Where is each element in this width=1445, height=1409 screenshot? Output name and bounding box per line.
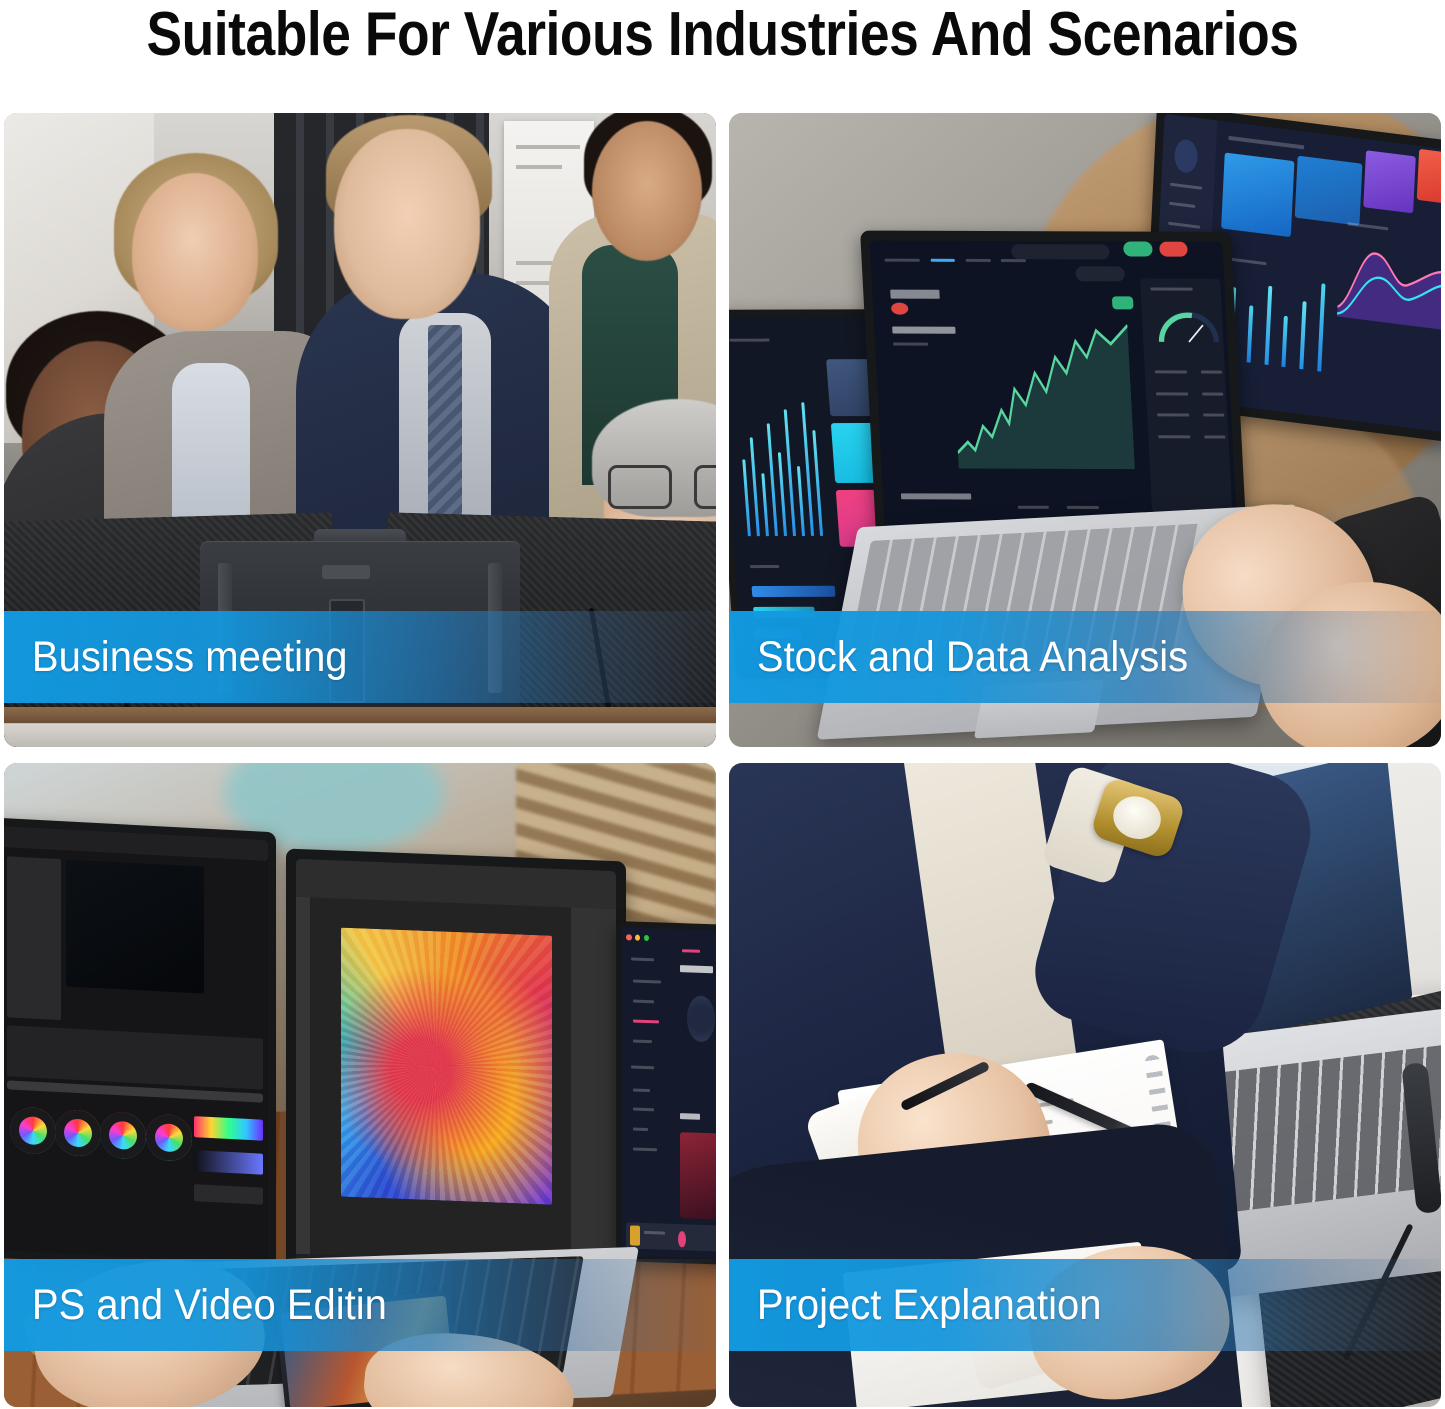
ie-analysis-card[interactable]: [1221, 152, 1295, 237]
scenario-panel-stock-data-analysis[interactable]: Stock and Data Analysis: [729, 113, 1441, 747]
ticker-flag-icon: [890, 302, 908, 314]
app-menubar[interactable]: [4, 826, 268, 861]
panel-caption-text: Project Explanation: [729, 1282, 1101, 1328]
gauge-chart: [1155, 303, 1221, 352]
promo-page: Suitable For Various Industries And Scen…: [0, 0, 1445, 1409]
scenario-grid: Business meeting: [4, 113, 1441, 1407]
add-watchlist-button[interactable]: [1075, 266, 1125, 282]
photoshop-screen: [296, 859, 616, 1291]
music-player-app: [622, 927, 716, 1259]
panel-caption-bar: Business meeting: [4, 611, 716, 703]
safari-analysis-card[interactable]: [1363, 150, 1415, 213]
person-face: [334, 129, 480, 319]
panel-caption-bar: Stock and Data Analysis: [729, 611, 1441, 703]
now-playing-art: [630, 1226, 641, 1246]
panel-caption-text: PS and Video Editin: [4, 1282, 387, 1328]
play-button[interactable]: [678, 1231, 686, 1248]
minimize-icon[interactable]: [635, 934, 640, 941]
hue-slider[interactable]: [194, 1116, 263, 1141]
album-art: [687, 995, 715, 1042]
stock-trading-dashboard: [870, 241, 1239, 550]
left-portable-monitor[interactable]: [4, 818, 276, 1273]
color-wheel-gain[interactable]: [100, 1111, 146, 1159]
stock-dashboard-screen: [870, 241, 1239, 550]
sell-button[interactable]: [1159, 242, 1188, 257]
opera-analysis-card[interactable]: [1416, 149, 1441, 205]
music-player-screen: [622, 927, 716, 1259]
buy-button[interactable]: [1123, 241, 1152, 256]
photoshop-toolbar[interactable]: [296, 897, 310, 1255]
color-wheel-offset[interactable]: [146, 1113, 192, 1161]
panel-caption-bar: Project Explanation: [729, 1259, 1441, 1351]
panel-caption-bar: PS and Video Editin: [4, 1259, 716, 1351]
laptop-display[interactable]: [286, 848, 626, 1301]
video-editing-app: [4, 826, 268, 1264]
search-input[interactable]: [1011, 244, 1111, 260]
media-pool[interactable]: [7, 856, 60, 1020]
progress-bar: [751, 586, 836, 597]
video-editor-screen: [4, 826, 268, 1264]
photoshop-menubar[interactable]: [296, 859, 616, 909]
meeting-table: [4, 707, 716, 747]
recent-album-card[interactable]: [680, 1133, 716, 1220]
scenario-panel-ps-and-video-editing[interactable]: PS and Video Editin: [4, 763, 716, 1407]
panel-caption-text: Stock and Data Analysis: [729, 634, 1188, 680]
velocity-analysis-chart: [1337, 232, 1441, 331]
scenario-panel-business-meeting[interactable]: Business meeting: [4, 113, 716, 747]
panel-caption-text: Business meeting: [4, 634, 348, 680]
page-title: Suitable For Various Industries And Scen…: [101, 0, 1344, 72]
maximize-icon[interactable]: [644, 934, 649, 941]
price-line-chart: [951, 309, 1136, 470]
video-preview[interactable]: [66, 859, 204, 993]
person-face: [592, 121, 702, 261]
photoshop-panels[interactable]: [571, 907, 616, 1266]
timeline-track[interactable]: [7, 1026, 262, 1090]
person-face: [132, 173, 258, 331]
color-wheel-lift[interactable]: [10, 1106, 56, 1154]
luminance-slider[interactable]: [194, 1184, 263, 1205]
scenario-panel-project-explanation[interactable]: Project Explanation: [729, 763, 1441, 1407]
chrome-analysis-card[interactable]: [1295, 156, 1362, 226]
color-wheel-gamma[interactable]: [55, 1109, 101, 1157]
photoshop-canvas-artwork: [341, 928, 552, 1205]
saturation-slider[interactable]: [194, 1150, 263, 1175]
price-change-badge: [1112, 297, 1134, 309]
right-portable-monitor[interactable]: [616, 921, 716, 1265]
close-icon[interactable]: [626, 934, 631, 941]
